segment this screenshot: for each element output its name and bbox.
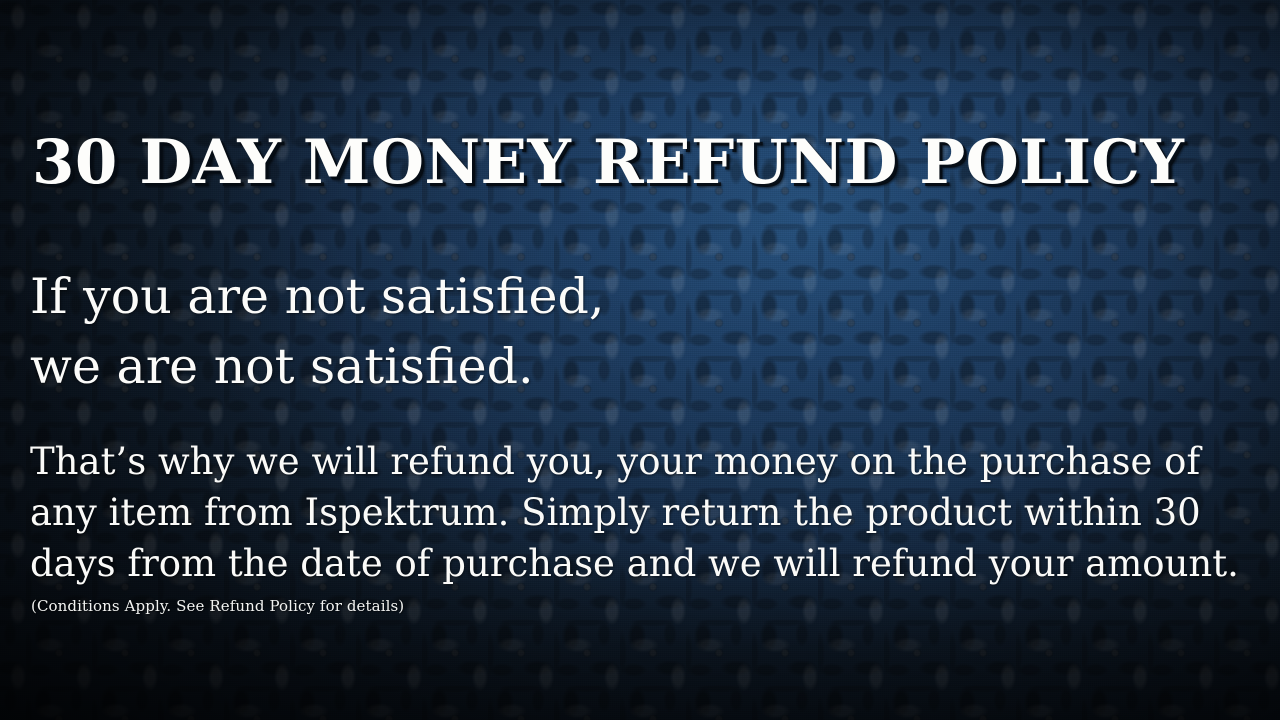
slide-canvas: 30 DAY MONEY REFUND POLICY If you are no… — [0, 0, 1280, 720]
lead-line-1: If you are not satisfied, — [30, 262, 1250, 332]
lead-statement: If you are not satisfied, we are not sat… — [30, 262, 1250, 402]
policy-body-paragraph: That’s why we will refund you, your mone… — [30, 436, 1242, 589]
slide-content: 30 DAY MONEY REFUND POLICY If you are no… — [0, 0, 1280, 720]
conditions-fineprint: (Conditions Apply. See Refund Policy for… — [31, 596, 404, 616]
slide-title: 30 DAY MONEY REFUND POLICY — [32, 129, 1248, 197]
lead-line-2: we are not satisfied. — [30, 332, 1250, 402]
